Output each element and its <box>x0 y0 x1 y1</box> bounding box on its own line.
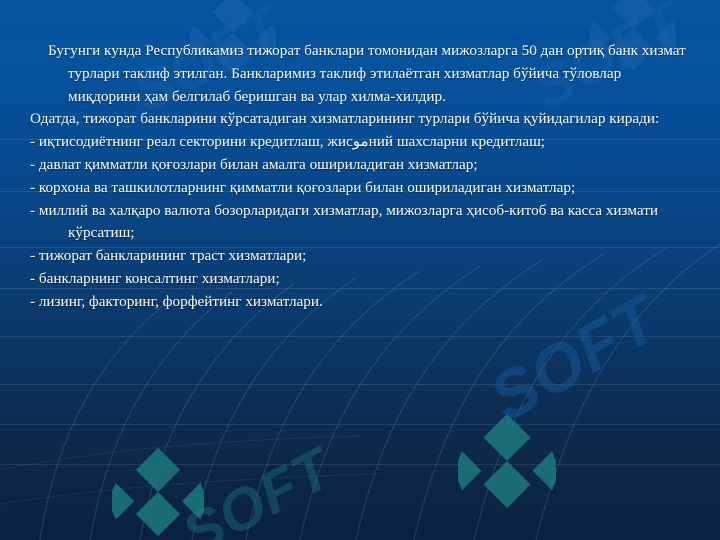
watermark-bottom-left: SOFT <box>112 438 332 540</box>
bullet-item: - банкларнинг консалтинг хизматлари; <box>30 268 694 291</box>
bullet-item: - лизинг, факторинг, форфейтинг хизматла… <box>30 291 694 314</box>
bullet-item: - миллий ва халқаро валюта бозорларидаги… <box>30 200 694 246</box>
background-rule <box>0 464 720 465</box>
slide-body: Бугунги кунда Республикамиз тижорат банк… <box>30 40 694 314</box>
bullet-item: - давлат қимматли қоғозлари билан амалга… <box>30 154 694 177</box>
paragraph-lead: Бугунги кунда Республикамиз тижорат банк… <box>30 40 694 108</box>
bullet-item: - тижорат банкларининг траст хизматлари; <box>30 245 694 268</box>
bullet-item: - корхона ва ташкилотларнинг қимматли қо… <box>30 177 694 200</box>
watermark-label: SOFT <box>172 435 344 540</box>
watermark-bottom-right: SOFT <box>470 300 720 540</box>
chevron-diamond-logo-icon <box>458 412 556 510</box>
presentation-slide: SOFT SOFT <box>0 0 720 540</box>
background-rule <box>0 424 720 425</box>
paragraph-intro: Одатда, тижорат банкларини кўрсатадиган … <box>30 108 694 131</box>
background-rule <box>0 384 720 385</box>
bullet-item: - иқтисодиётнинг реал секторини кредитла… <box>30 131 694 154</box>
chevron-diamond-logo-icon <box>112 446 204 538</box>
background-rule <box>0 336 720 337</box>
